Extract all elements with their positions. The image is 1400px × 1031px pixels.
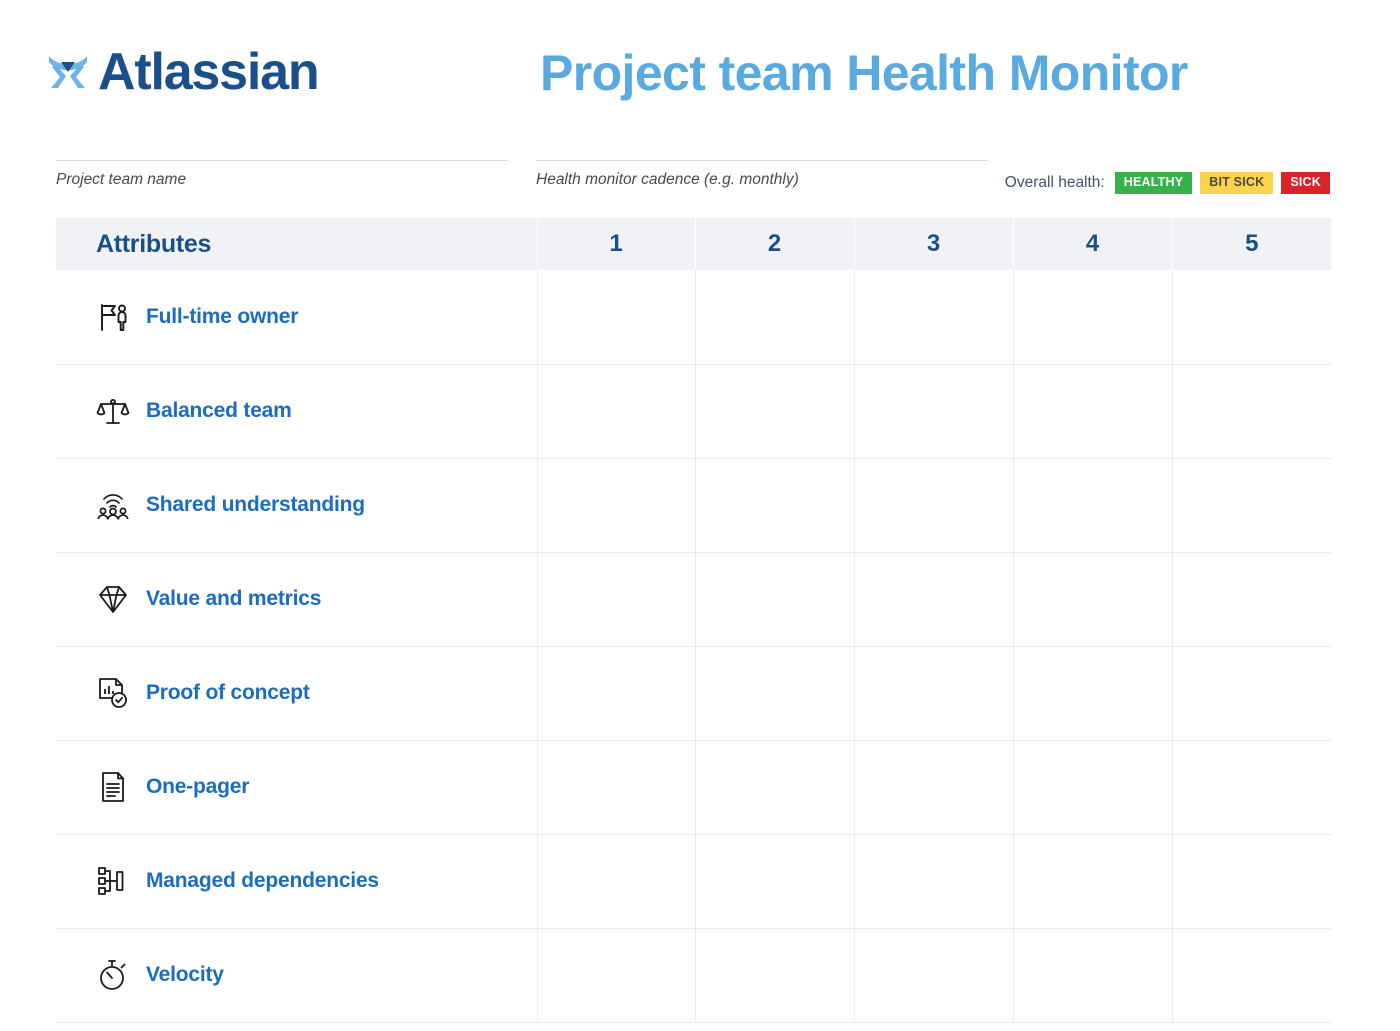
score-cell-3[interactable] bbox=[854, 552, 1013, 646]
score-cell-2[interactable] bbox=[695, 928, 854, 1022]
people-broadcast-icon bbox=[96, 488, 130, 522]
document-lines-icon bbox=[96, 770, 130, 804]
status-badge-bit-sick[interactable]: BIT SICK bbox=[1200, 172, 1273, 194]
table-row: Value and metrics bbox=[56, 552, 1331, 646]
table-row: One-pager bbox=[56, 740, 1331, 834]
health-monitor-table: Attributes 1 2 3 4 5 Full-time ownerBala… bbox=[56, 218, 1331, 1023]
score-cell-3[interactable] bbox=[854, 740, 1013, 834]
score-cell-2[interactable] bbox=[695, 552, 854, 646]
attribute-label: Velocity bbox=[146, 963, 224, 987]
project-team-name-label: Project team name bbox=[56, 171, 508, 189]
attribute-label: Shared understanding bbox=[146, 493, 365, 517]
column-header-4: 4 bbox=[1013, 218, 1172, 270]
diamond-icon bbox=[96, 582, 130, 616]
attribute-cell: Proof of concept bbox=[56, 646, 537, 740]
overall-health-label: Overall health: bbox=[1005, 174, 1105, 192]
score-cell-3[interactable] bbox=[854, 646, 1013, 740]
attribute-label: Managed dependencies bbox=[146, 869, 379, 893]
field-underline bbox=[536, 160, 988, 161]
score-cell-5[interactable] bbox=[1172, 270, 1331, 364]
column-header-1: 1 bbox=[537, 218, 695, 270]
health-monitor-cadence-field[interactable]: Health monitor cadence (e.g. monthly) bbox=[536, 160, 988, 189]
score-cell-1[interactable] bbox=[537, 834, 695, 928]
score-cell-4[interactable] bbox=[1013, 646, 1172, 740]
score-cell-3[interactable] bbox=[854, 928, 1013, 1022]
brand-name: Atlassian bbox=[98, 46, 318, 98]
status-badge-sick[interactable]: SICK bbox=[1281, 172, 1330, 194]
document-chart-check-icon bbox=[96, 676, 130, 710]
score-cell-4[interactable] bbox=[1013, 364, 1172, 458]
stopwatch-icon bbox=[96, 958, 130, 992]
score-cell-5[interactable] bbox=[1172, 646, 1331, 740]
attribute-cell: Managed dependencies bbox=[56, 834, 537, 928]
project-team-name-field[interactable]: Project team name bbox=[56, 160, 508, 189]
score-cell-2[interactable] bbox=[695, 458, 854, 552]
attribute-cell: Shared understanding bbox=[56, 458, 537, 552]
table-row: Proof of concept bbox=[56, 646, 1331, 740]
score-cell-2[interactable] bbox=[695, 834, 854, 928]
atlassian-brand: Atlassian bbox=[42, 42, 318, 102]
attribute-cell: Value and metrics bbox=[56, 552, 537, 646]
attribute-label: Value and metrics bbox=[146, 587, 321, 611]
table-body: Full-time ownerBalanced teamShared under… bbox=[56, 270, 1331, 1022]
column-header-2: 2 bbox=[695, 218, 854, 270]
page-header: Atlassian Project team Health Monitor bbox=[0, 0, 1400, 150]
score-cell-5[interactable] bbox=[1172, 458, 1331, 552]
table-row: Shared understanding bbox=[56, 458, 1331, 552]
score-cell-4[interactable] bbox=[1013, 740, 1172, 834]
score-cell-4[interactable] bbox=[1013, 834, 1172, 928]
score-cell-3[interactable] bbox=[854, 458, 1013, 552]
form-row: Project team name Health monitor cadence… bbox=[0, 160, 1400, 208]
health-monitor-page: Atlassian Project team Health Monitor Pr… bbox=[0, 0, 1400, 1031]
score-cell-2[interactable] bbox=[695, 646, 854, 740]
health-monitor-cadence-label: Health monitor cadence (e.g. monthly) bbox=[536, 171, 988, 189]
score-cell-5[interactable] bbox=[1172, 552, 1331, 646]
score-cell-1[interactable] bbox=[537, 928, 695, 1022]
score-cell-3[interactable] bbox=[854, 364, 1013, 458]
score-cell-2[interactable] bbox=[695, 270, 854, 364]
table-row: Velocity bbox=[56, 928, 1331, 1022]
attribute-label: Proof of concept bbox=[146, 681, 310, 705]
score-cell-5[interactable] bbox=[1172, 928, 1331, 1022]
overall-health-legend: Overall health: HEALTHY BIT SICK SICK bbox=[1005, 172, 1330, 194]
score-cell-2[interactable] bbox=[695, 364, 854, 458]
attribute-cell: Balanced team bbox=[56, 364, 537, 458]
table-header-row: Attributes 1 2 3 4 5 bbox=[56, 218, 1331, 270]
score-cell-1[interactable] bbox=[537, 364, 695, 458]
table-row: Balanced team bbox=[56, 364, 1331, 458]
score-cell-3[interactable] bbox=[854, 834, 1013, 928]
score-cell-2[interactable] bbox=[695, 740, 854, 834]
dependency-tree-icon bbox=[96, 864, 130, 898]
attribute-cell: Full-time owner bbox=[56, 270, 537, 364]
score-cell-5[interactable] bbox=[1172, 834, 1331, 928]
score-cell-4[interactable] bbox=[1013, 552, 1172, 646]
score-cell-1[interactable] bbox=[537, 646, 695, 740]
score-cell-5[interactable] bbox=[1172, 740, 1331, 834]
balance-scale-icon bbox=[96, 394, 130, 428]
score-cell-5[interactable] bbox=[1172, 364, 1331, 458]
score-cell-4[interactable] bbox=[1013, 928, 1172, 1022]
attribute-cell: One-pager bbox=[56, 740, 537, 834]
table-row: Full-time owner bbox=[56, 270, 1331, 364]
score-cell-4[interactable] bbox=[1013, 458, 1172, 552]
table-header: Attributes 1 2 3 4 5 bbox=[56, 218, 1331, 270]
flag-person-icon bbox=[96, 300, 130, 334]
attribute-label: One-pager bbox=[146, 775, 249, 799]
score-cell-3[interactable] bbox=[854, 270, 1013, 364]
status-badge-healthy[interactable]: HEALTHY bbox=[1115, 172, 1193, 194]
column-header-3: 3 bbox=[854, 218, 1013, 270]
score-cell-1[interactable] bbox=[537, 270, 695, 364]
page-title: Project team Health Monitor bbox=[540, 44, 1188, 102]
score-cell-1[interactable] bbox=[537, 552, 695, 646]
attribute-label: Full-time owner bbox=[146, 305, 298, 329]
attribute-cell: Velocity bbox=[56, 928, 537, 1022]
atlassian-logo-icon bbox=[42, 46, 94, 98]
field-underline bbox=[56, 160, 508, 161]
column-header-attributes: Attributes bbox=[56, 218, 537, 270]
attribute-label: Balanced team bbox=[146, 399, 292, 423]
score-cell-4[interactable] bbox=[1013, 270, 1172, 364]
column-header-5: 5 bbox=[1172, 218, 1331, 270]
score-cell-1[interactable] bbox=[537, 458, 695, 552]
table-row: Managed dependencies bbox=[56, 834, 1331, 928]
score-cell-1[interactable] bbox=[537, 740, 695, 834]
